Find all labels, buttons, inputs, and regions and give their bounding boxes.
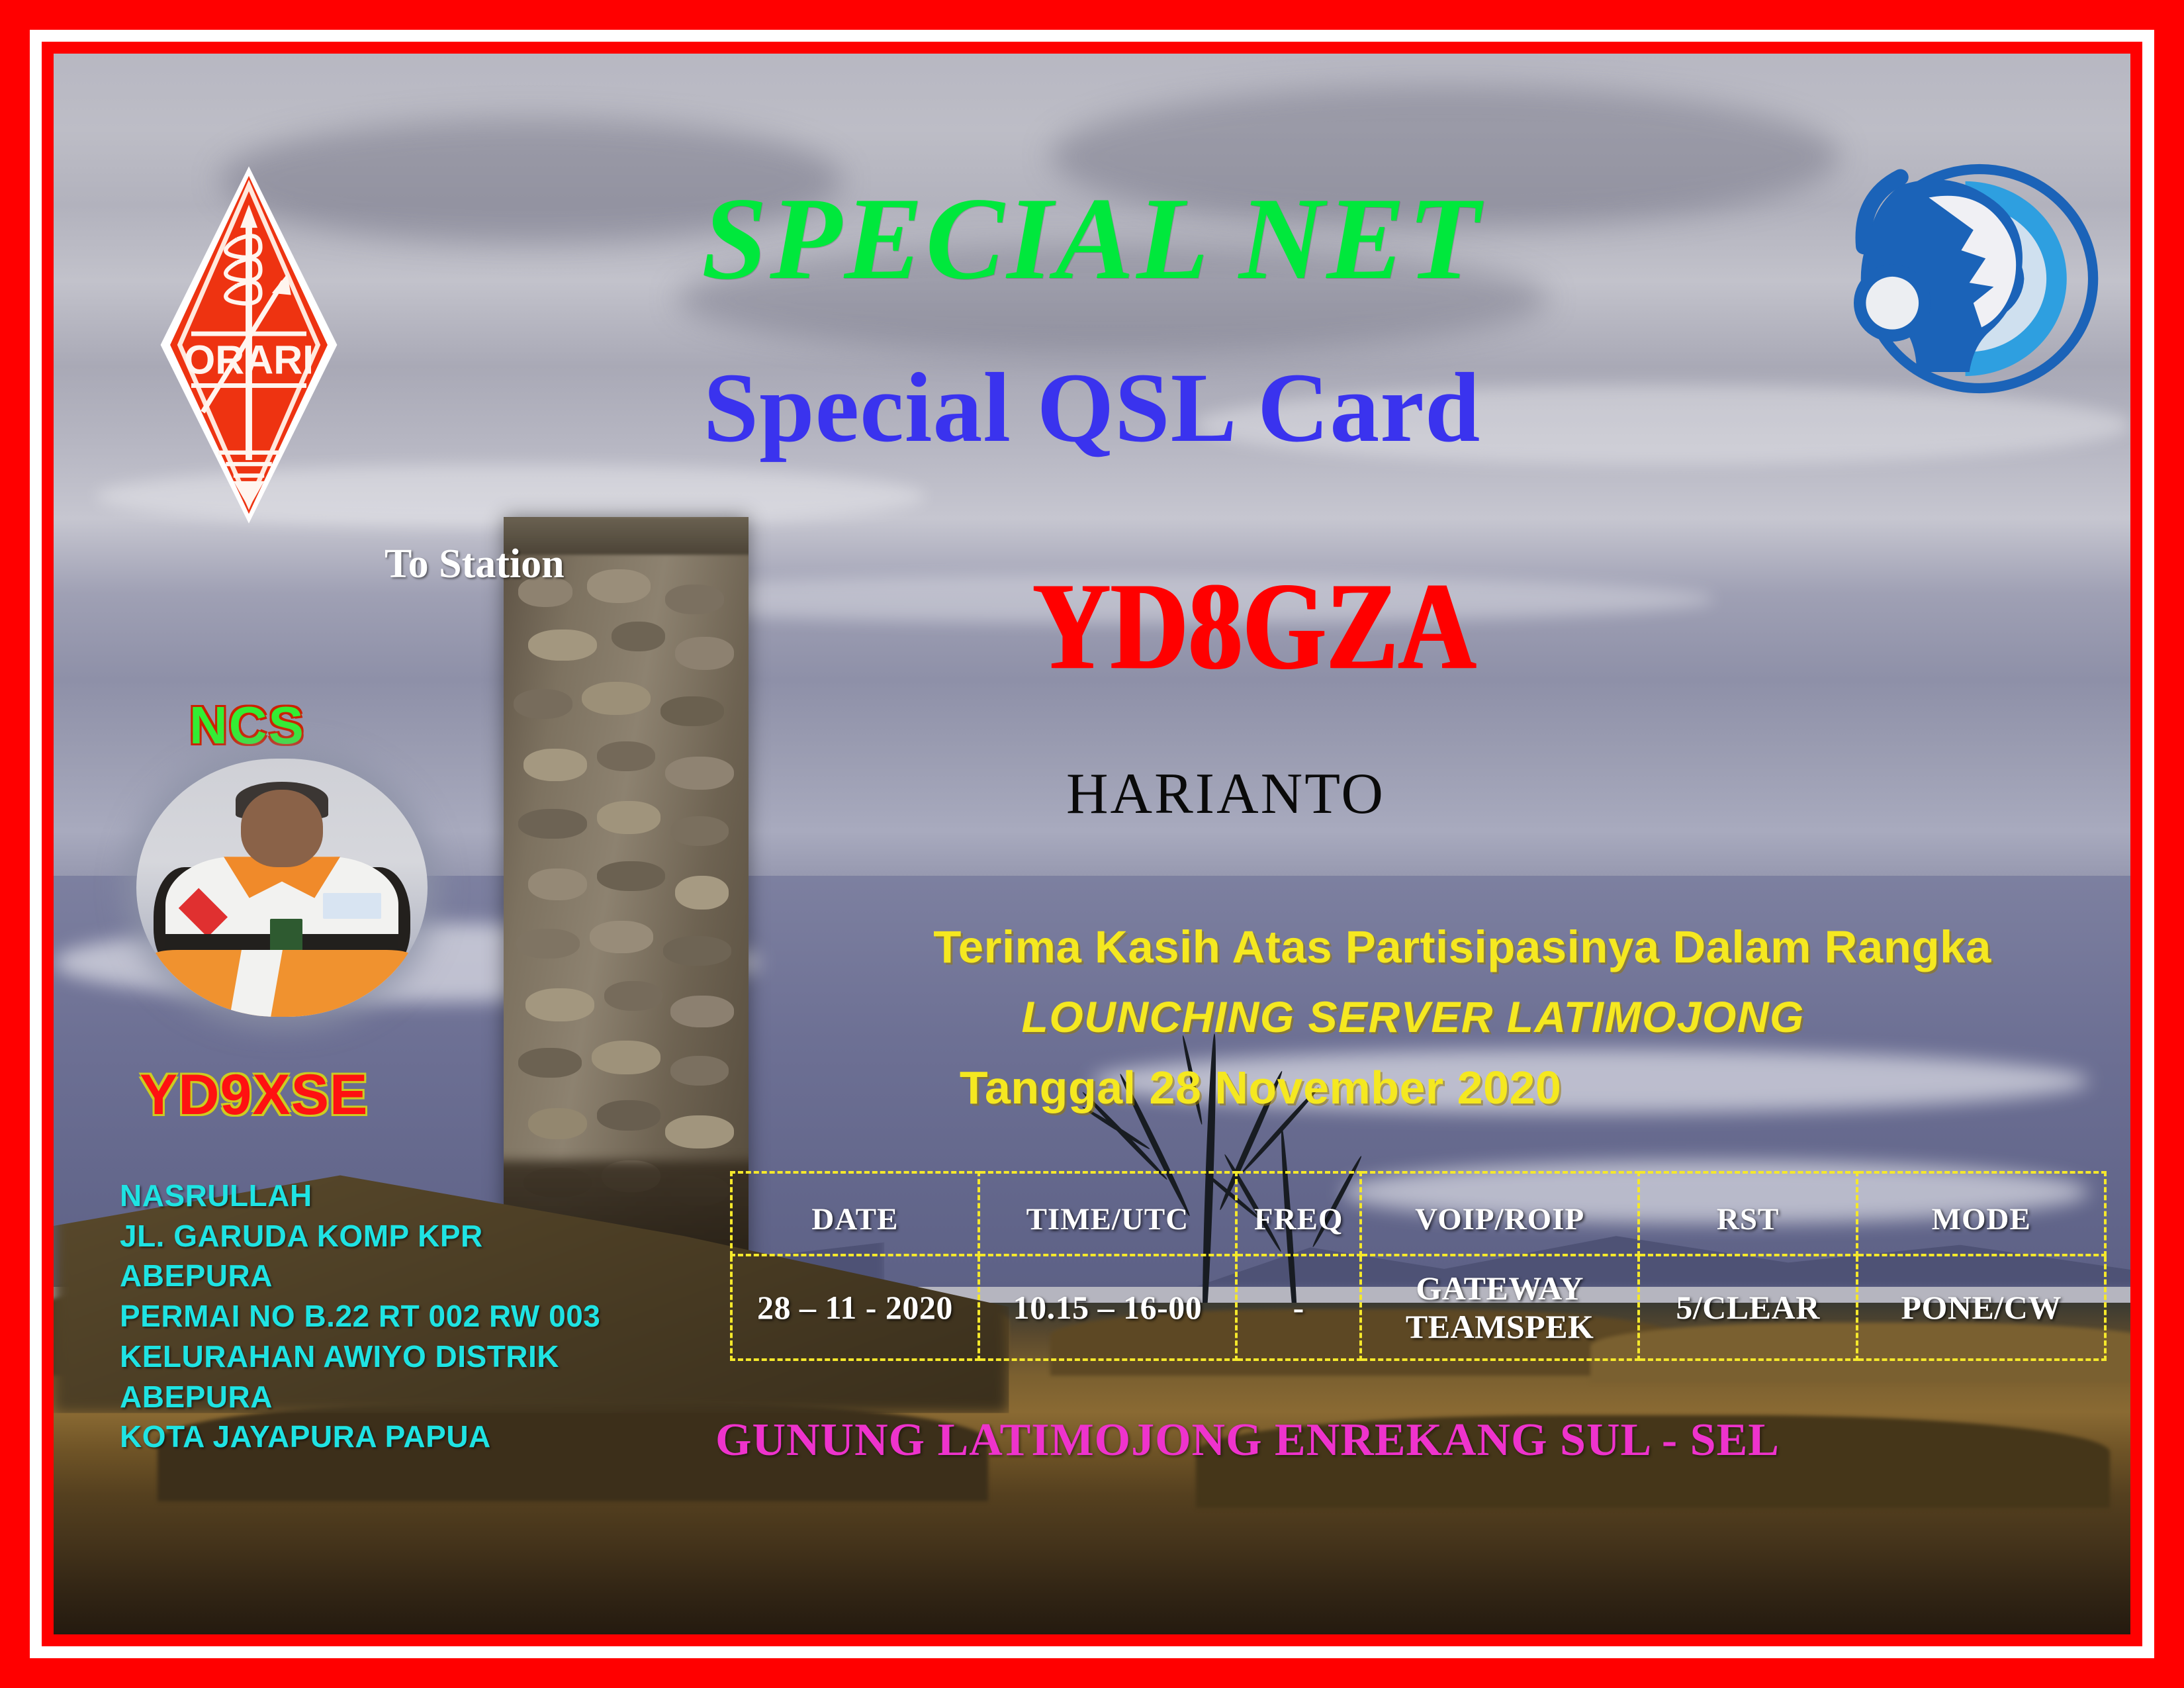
stone [675,876,729,910]
orari-diamond-logo: ORARI [153,160,345,530]
column-header-date: DATE [731,1172,979,1255]
page-subtitle: Special QSL Card [704,358,1481,457]
stone [592,1041,660,1074]
qso-table: DATE TIME/UTC FREQ VOIP/ROIP RST MODE 28… [730,1171,2107,1361]
cell-voip-line2: TEAMSPEK [1363,1307,1636,1346]
column-header-voip-roip: VOIP/ROIP [1361,1172,1638,1255]
address-line: KELURAHAN AWIYO DISTRIK [120,1336,662,1377]
stone [670,816,729,846]
stone [663,936,732,966]
station-address-block: NASRULLAH JL. GARUDA KOMP KPR ABEPURA PE… [120,1176,662,1457]
stone [660,696,724,726]
thanks-line-1: Terima Kasih Atas Partisipasinya Dalam R… [933,924,1991,970]
ncs-portrait-photo [136,759,428,1017]
operator-name: HARIANTO [1066,765,1385,823]
footer-slogan: "AMATIR RADIO ADALAH PROGRESIVE" [130,1632,1064,1634]
qsl-card: ORARI SPECIAL NET Special Q [0,0,2184,1688]
column-header-time: TIME/UTC [979,1172,1236,1255]
card-inner-red-frame: ORARI SPECIAL NET Special Q [42,42,2142,1646]
cell-date: 28 – 11 - 2020 [731,1255,979,1360]
avatar [136,759,428,1017]
address-line: PERMAI NO B.22 RT 002 RW 003 [120,1296,662,1336]
stone [597,1100,660,1130]
stone [670,996,734,1027]
stone [528,868,587,900]
cell-freq: - [1236,1255,1361,1360]
column-header-freq: FREQ [1236,1172,1361,1255]
address-line: JL. GARUDA KOMP KPR [120,1216,662,1256]
address-line: ABEPURA [120,1377,662,1417]
card-photo-background: ORARI SPECIAL NET Special Q [54,54,2130,1634]
thanks-line-2: LOUNCHING SERVER LATIMOJONG [1022,995,1805,1039]
stone [597,801,660,834]
event-location: GUNUNG LATIMOJONG ENREKANG SUL - SEL [715,1417,1780,1464]
stone [582,682,651,716]
cell-voip-line1: GATEWAY [1363,1269,1636,1307]
thanks-line-3: Tanggal 28 November 2020 [960,1064,1561,1111]
stone [516,929,580,959]
cell-time: 10.15 – 16-00 [979,1255,1236,1360]
footer-web-address: Address : amatir.latimojong.com [1311,1631,1960,1634]
stone [612,622,665,651]
card-white-frame: ORARI SPECIAL NET Special Q [30,30,2154,1658]
stone [597,861,666,891]
to-station-label: To Station [385,543,565,585]
address-line: NASRULLAH [120,1176,662,1216]
stone [670,1056,729,1086]
column-header-rst: RST [1639,1172,1858,1255]
ncs-label: NCS [189,699,305,752]
stone [604,981,663,1011]
column-header-mode: MODE [1857,1172,2105,1255]
stone [665,1115,734,1149]
stone [587,569,651,603]
stone-monument [504,517,749,1265]
stone [518,809,587,839]
ncs-callsign: YD9XSE [140,1066,368,1123]
stone [590,921,653,953]
svg-text:ORARI: ORARI [184,337,314,382]
address-line: ABEPURA [120,1256,662,1296]
stone [528,1108,587,1139]
page-title: SPECIAL NET [702,179,1482,297]
address-line: KOTA JAYAPURA PAPUA [120,1417,662,1457]
stone [514,689,572,719]
stone [518,1048,582,1078]
stone [665,585,724,614]
stone [597,741,656,771]
portrait-sash [151,950,413,1017]
portrait-id-card [270,919,302,953]
cell-rst: 5/CLEAR [1639,1255,1858,1360]
portrait-logo-patch [323,893,381,919]
station-callsign: YD8GZA [1033,563,1477,688]
stone [525,988,594,1021]
table-row: 28 – 11 - 2020 10.15 – 16-00 - GATEWAY T… [731,1255,2105,1360]
cell-voip-roip: GATEWAY TEAMSPEK [1361,1255,1638,1360]
stone [523,749,587,781]
stone [528,630,597,661]
cell-mode: PONE/CW [1857,1255,2105,1360]
stone [675,637,734,670]
headset-profile-waves-logo [1847,153,2112,404]
stone [665,757,734,790]
portrait-face [241,790,322,867]
table-header-row: DATE TIME/UTC FREQ VOIP/ROIP RST MODE [731,1172,2105,1255]
